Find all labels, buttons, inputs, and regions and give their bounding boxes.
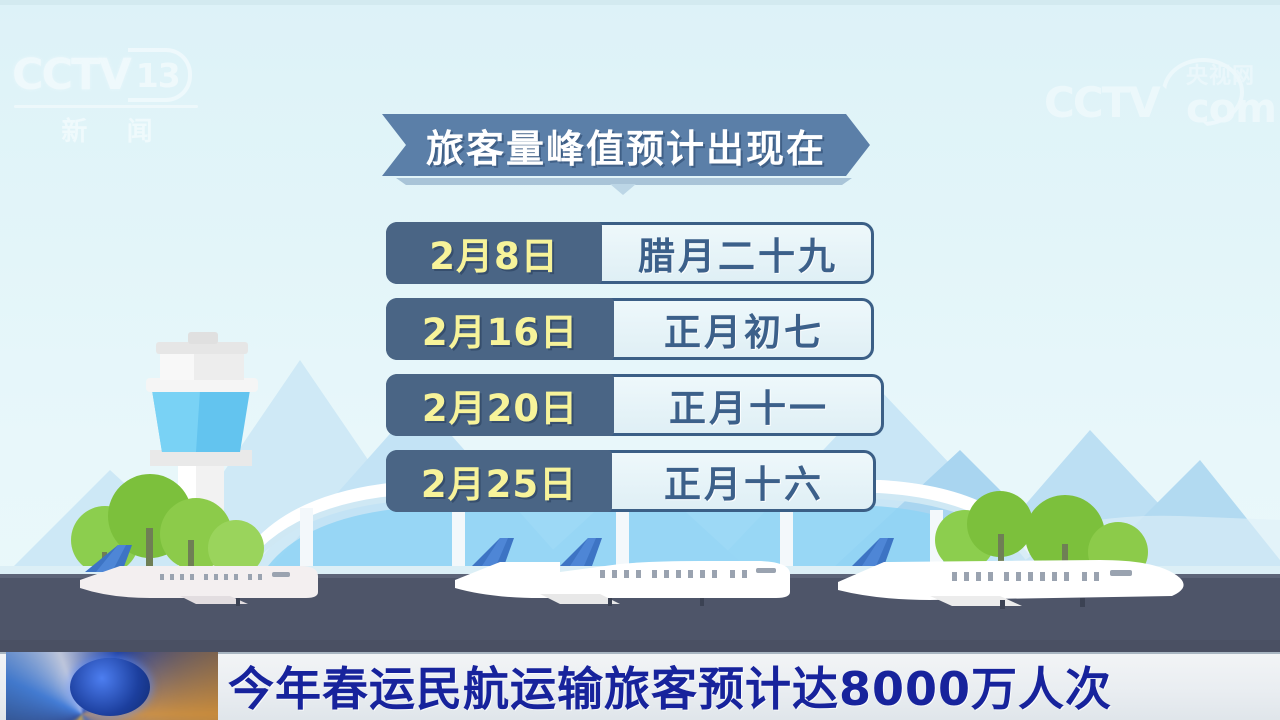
chyron-headline: 今年春运民航运输旅客预计达8000万人次 bbox=[228, 652, 1278, 720]
date-pill: 2月25日 bbox=[386, 450, 612, 512]
graphic-title-banner: 旅客量峰值预计出现在 bbox=[382, 114, 870, 188]
date-row: 2月25日 正月十六 bbox=[386, 450, 896, 512]
cctv-wordmark: CCTV bbox=[12, 50, 130, 100]
globe-graphic-icon bbox=[6, 652, 218, 720]
date-pill: 2月8日 bbox=[386, 222, 602, 284]
date-row: 2月20日 正月十一 bbox=[386, 374, 896, 436]
globe-landmass bbox=[98, 666, 142, 708]
broadcast-screen: CCTV 13 新 闻 CCTV 央视网 com 旅客量峰值预计出现在 2月8日… bbox=[0, 0, 1280, 720]
date-pill: 2月20日 bbox=[386, 374, 614, 436]
date-row: 2月8日 腊月二十九 bbox=[386, 222, 896, 284]
graphic-title-text: 旅客量峰值预计出现在 bbox=[382, 114, 870, 176]
channel-subtitle: 新 闻 bbox=[8, 111, 208, 148]
gregorian-date: 2月8日 bbox=[429, 226, 559, 280]
date-pill: 2月16日 bbox=[386, 298, 614, 360]
cctv-com-watermark: CCTV 央视网 com bbox=[1036, 56, 1266, 124]
logo-divider bbox=[14, 105, 198, 108]
banner-pointer-icon bbox=[610, 184, 636, 195]
gregorian-date: 2月16日 bbox=[422, 302, 578, 356]
cctv13-logo: CCTV 13 新 闻 bbox=[8, 48, 208, 148]
date-row: 2月16日 正月初七 bbox=[386, 298, 896, 360]
gregorian-date: 2月20日 bbox=[422, 378, 578, 432]
lunar-date: 正月十一 bbox=[614, 374, 884, 436]
peak-dates-list: 2月8日 腊月二十九 2月16日 正月初七 2月20日 正月十一 2月25日 正… bbox=[386, 222, 896, 526]
lunar-date: 腊月二十九 bbox=[602, 222, 874, 284]
gregorian-date: 2月25日 bbox=[421, 454, 577, 508]
lunar-date: 正月初七 bbox=[614, 298, 874, 360]
channel-number: 13 bbox=[136, 56, 180, 95]
cctv13-ring-icon: 13 bbox=[128, 48, 192, 102]
watermark-cctv-text: CCTV bbox=[1044, 78, 1159, 127]
watermark-com-text: com bbox=[1186, 86, 1276, 132]
cctv13-logo-row: CCTV 13 bbox=[8, 48, 208, 102]
lunar-date: 正月十六 bbox=[612, 450, 876, 512]
